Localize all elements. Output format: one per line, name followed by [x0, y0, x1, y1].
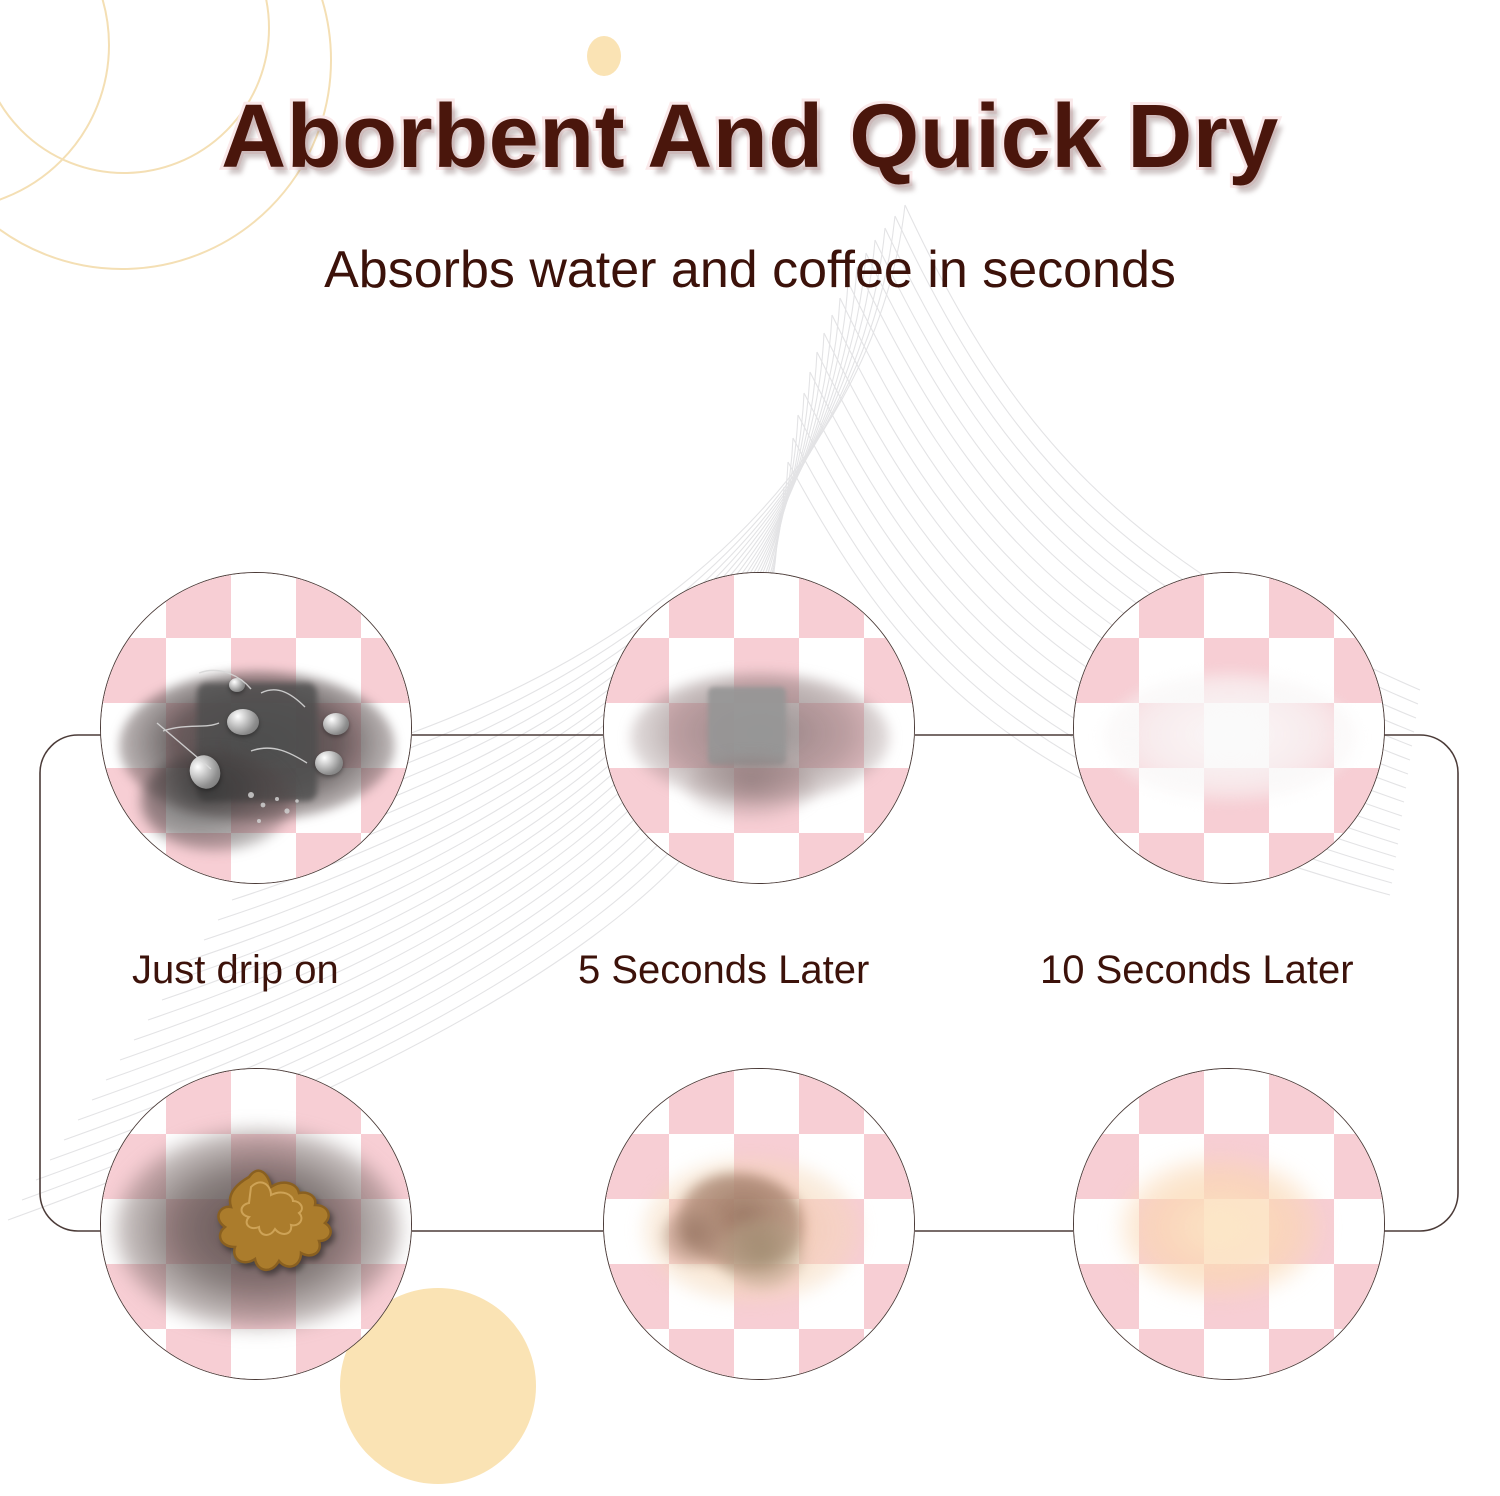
water-stain-5s-tail [686, 755, 816, 819]
step-label-10-seconds: 10 Seconds Later [1040, 948, 1354, 993]
connector-left-loop [40, 735, 104, 1231]
water-stain-5s-core [708, 687, 786, 765]
step-label-5-seconds: 5 Seconds Later [578, 948, 869, 993]
step-water-10-seconds[interactable] [1073, 572, 1385, 884]
page-subtitle: Absorbs water and coffee in seconds [0, 240, 1500, 300]
step-coffee-10-seconds[interactable] [1073, 1068, 1385, 1380]
page-title: Aborbent And Quick Dry [0, 86, 1500, 189]
step-label-just-drip-on: Just drip on [132, 948, 339, 993]
step-water-5-seconds[interactable] [603, 572, 915, 884]
coffee-splash-icon [101, 1069, 412, 1380]
coffee-stain-10s [1120, 1157, 1320, 1297]
connector-right-loop [1381, 735, 1458, 1231]
step-coffee-5-seconds[interactable] [603, 1068, 915, 1380]
decorative-dot-top [587, 36, 621, 76]
coffee-stain-5s-lobe [662, 1209, 724, 1265]
step-water-just-drip-on[interactable] [100, 572, 412, 884]
coffee-stain-5s-lower [720, 1219, 804, 1289]
water-splash-strokes [101, 573, 412, 884]
step-coffee-just-drip-on[interactable] [100, 1068, 412, 1380]
water-stain-10s [1104, 673, 1356, 801]
